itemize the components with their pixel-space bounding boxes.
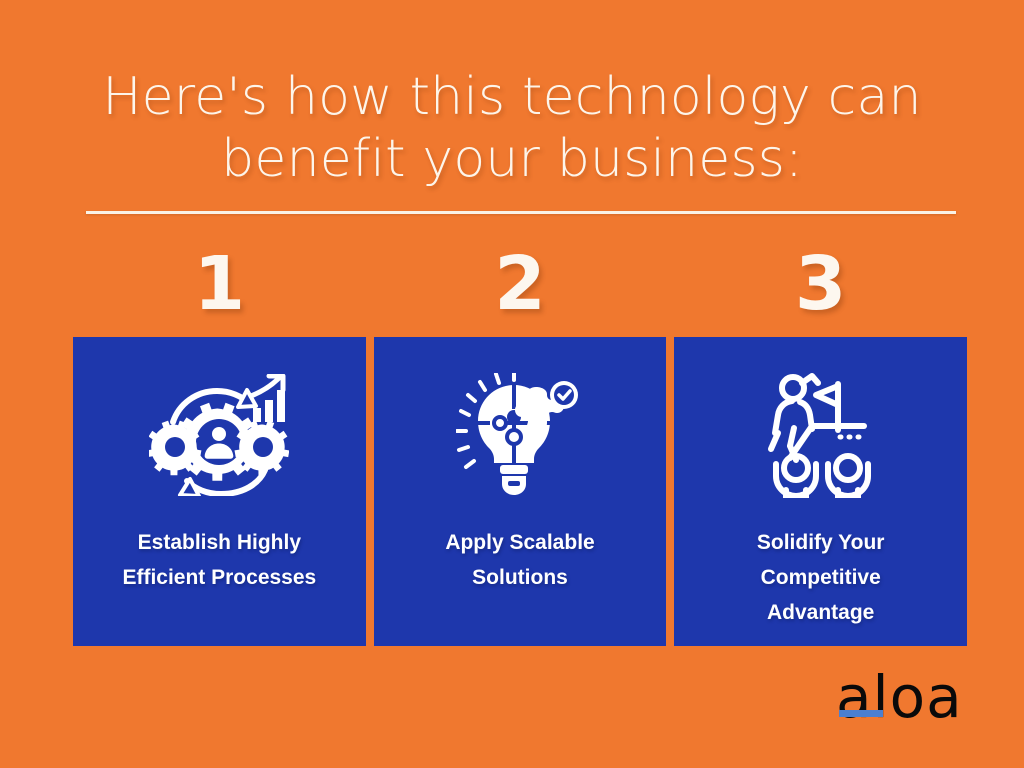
step-card-3[interactable]: Solidify Your Competitive Advantage bbox=[674, 337, 967, 646]
step-number-cell-1: 1 bbox=[73, 238, 366, 330]
step-card-label-2-line-2: Solutions bbox=[445, 560, 594, 595]
step-cards-row: Establish Highly Efficient Processes bbox=[73, 337, 967, 646]
step-card-label-1-line-2: Efficient Processes bbox=[122, 560, 316, 595]
step-card-label-3-line-1: Solidify Your bbox=[757, 525, 885, 560]
step-number-cell-2: 2 bbox=[374, 238, 667, 330]
aloa-logo[interactable]: aloa bbox=[836, 668, 968, 730]
title-line-1: Here's how this technology can bbox=[60, 66, 964, 128]
step-card-label-3: Solidify Your Competitive Advantage bbox=[743, 525, 899, 630]
step-card-label-3-line-3: Advantage bbox=[757, 595, 885, 630]
step-card-label-2-line-1: Apply Scalable bbox=[445, 525, 594, 560]
logo-underline bbox=[839, 710, 883, 717]
step-card-label-1: Establish Highly Efficient Processes bbox=[108, 525, 330, 595]
step-card-2[interactable]: Apply Scalable Solutions bbox=[374, 337, 667, 646]
step-card-label-1-line-1: Establish Highly bbox=[122, 525, 316, 560]
page-title: Here's how this technology can benefit y… bbox=[60, 66, 964, 190]
step-card-label-2: Apply Scalable Solutions bbox=[431, 525, 608, 595]
teamwork-flag-icon bbox=[746, 371, 896, 499]
step-number-cell-3: 3 bbox=[674, 238, 967, 330]
gears-process-icon bbox=[144, 371, 294, 499]
step-card-1[interactable]: Establish Highly Efficient Processes bbox=[73, 337, 366, 646]
step-number-3: 3 bbox=[795, 245, 847, 323]
step-number-2: 2 bbox=[494, 245, 546, 323]
step-card-label-3-line-2: Competitive bbox=[757, 560, 885, 595]
step-number-1: 1 bbox=[194, 245, 246, 323]
slide-canvas: Here's how this technology can benefit y… bbox=[0, 0, 1024, 768]
title-divider bbox=[86, 211, 956, 214]
logo-text: aloa bbox=[836, 663, 963, 731]
lightbulb-puzzle-icon bbox=[445, 371, 595, 499]
title-line-2: benefit your business: bbox=[60, 128, 964, 190]
step-numbers-row: 1 2 3 bbox=[73, 238, 967, 330]
